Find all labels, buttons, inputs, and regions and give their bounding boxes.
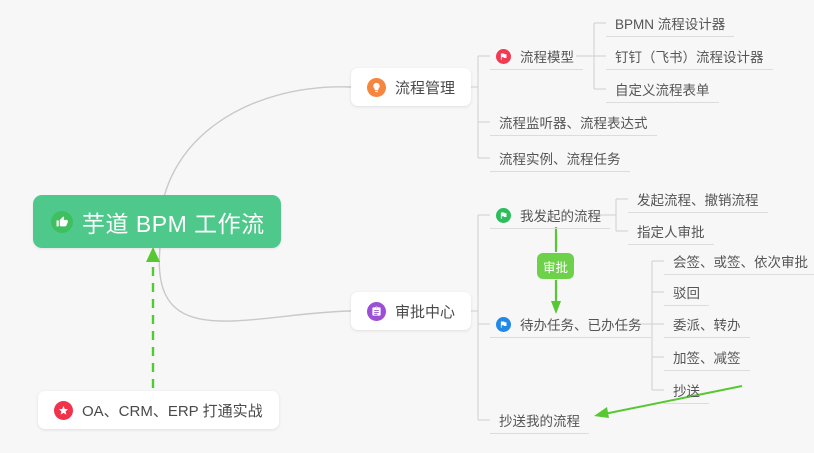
leaf-counter-or-sequential-sign-label: 会签、或签、依次审批 xyxy=(673,251,808,271)
leaf-todo-done-task-label: 待办任务、已办任务 xyxy=(520,314,642,334)
root-node[interactable]: 芋道 BPM 工作流 xyxy=(33,195,281,248)
root-node-label: 芋道 BPM 工作流 xyxy=(82,205,265,239)
branch-approval-center[interactable]: 审批中心 xyxy=(351,292,471,330)
branch-approval-center-label: 审批中心 xyxy=(395,301,455,322)
leaf-process-listener-expression-label: 流程监听器、流程表达式 xyxy=(499,112,648,132)
flow-arrow-integration-note xyxy=(146,247,160,388)
leaf-dingtalk-feishu-designer-label: 钉钉（飞书）流程设计器 xyxy=(615,46,764,66)
lightbulb-icon xyxy=(367,78,386,97)
leaf-carbon-copy-label: 抄送 xyxy=(673,380,700,400)
leaf-start-cancel-process[interactable]: 发起流程、撤销流程 xyxy=(628,186,768,213)
leaf-start-cancel-process-label: 发起流程、撤销流程 xyxy=(637,189,759,209)
leaf-my-started-process[interactable]: 我发起的流程 xyxy=(490,202,610,229)
branch-process-management[interactable]: 流程管理 xyxy=(351,68,471,106)
leaf-carbon-copy[interactable]: 抄送 xyxy=(664,377,709,404)
leaf-my-started-process-label: 我发起的流程 xyxy=(520,205,601,225)
flag-blue-icon xyxy=(496,317,511,332)
leaf-process-instance-task-label: 流程实例、流程任务 xyxy=(499,148,621,168)
leaf-bpmn-designer-label: BPMN 流程设计器 xyxy=(615,13,725,33)
leaf-cc-to-me-process[interactable]: 抄送我的流程 xyxy=(490,407,589,434)
edge-root-to-approval-center xyxy=(159,248,351,321)
integration-note-node[interactable]: OA、CRM、ERP 打通实战 xyxy=(38,391,279,429)
leaf-dingtalk-feishu-designer[interactable]: 钉钉（飞书）流程设计器 xyxy=(606,43,773,70)
mindmap-canvas: 芋道 BPM 工作流 流程管理 审批中心 流程模型 BPMN 流程设计器 xyxy=(0,0,814,453)
star-icon xyxy=(54,401,73,420)
leaf-custom-process-form-label: 自定义流程表单 xyxy=(615,79,710,99)
approval-flow-tag-label: 审批 xyxy=(543,257,568,276)
branch-process-management-label: 流程管理 xyxy=(395,77,455,98)
leaf-delegate-transfer[interactable]: 委派、转办 xyxy=(664,311,750,338)
integration-note-label: OA、CRM、ERP 打通实战 xyxy=(82,400,263,421)
leaf-custom-process-form[interactable]: 自定义流程表单 xyxy=(606,76,719,103)
leaf-process-model-label: 流程模型 xyxy=(520,46,574,66)
leaf-bpmn-designer[interactable]: BPMN 流程设计器 xyxy=(606,10,734,37)
leaf-process-listener-expression[interactable]: 流程监听器、流程表达式 xyxy=(490,109,657,136)
leaf-delegate-transfer-label: 委派、转办 xyxy=(673,314,741,334)
leaf-add-remove-sign[interactable]: 加签、减签 xyxy=(664,344,750,371)
leaf-reject[interactable]: 驳回 xyxy=(664,279,709,306)
leaf-cc-to-me-process-label: 抄送我的流程 xyxy=(499,410,580,430)
approval-flow-tag[interactable]: 审批 xyxy=(537,253,574,279)
leaf-add-remove-sign-label: 加签、减签 xyxy=(673,347,741,367)
leaf-todo-done-task[interactable]: 待办任务、已办任务 xyxy=(490,311,651,338)
leaf-assignee-approval-label: 指定人审批 xyxy=(637,221,705,241)
flag-green-icon xyxy=(496,208,511,223)
leaf-assignee-approval[interactable]: 指定人审批 xyxy=(628,218,714,245)
thumbs-up-icon xyxy=(51,211,73,233)
leaf-process-model[interactable]: 流程模型 xyxy=(490,43,583,70)
clipboard-icon xyxy=(367,302,386,321)
leaf-process-instance-task[interactable]: 流程实例、流程任务 xyxy=(490,145,630,172)
leaf-counter-or-sequential-sign[interactable]: 会签、或签、依次审批 xyxy=(664,248,814,275)
leaf-reject-label: 驳回 xyxy=(673,282,700,302)
flag-red-icon xyxy=(496,49,511,64)
